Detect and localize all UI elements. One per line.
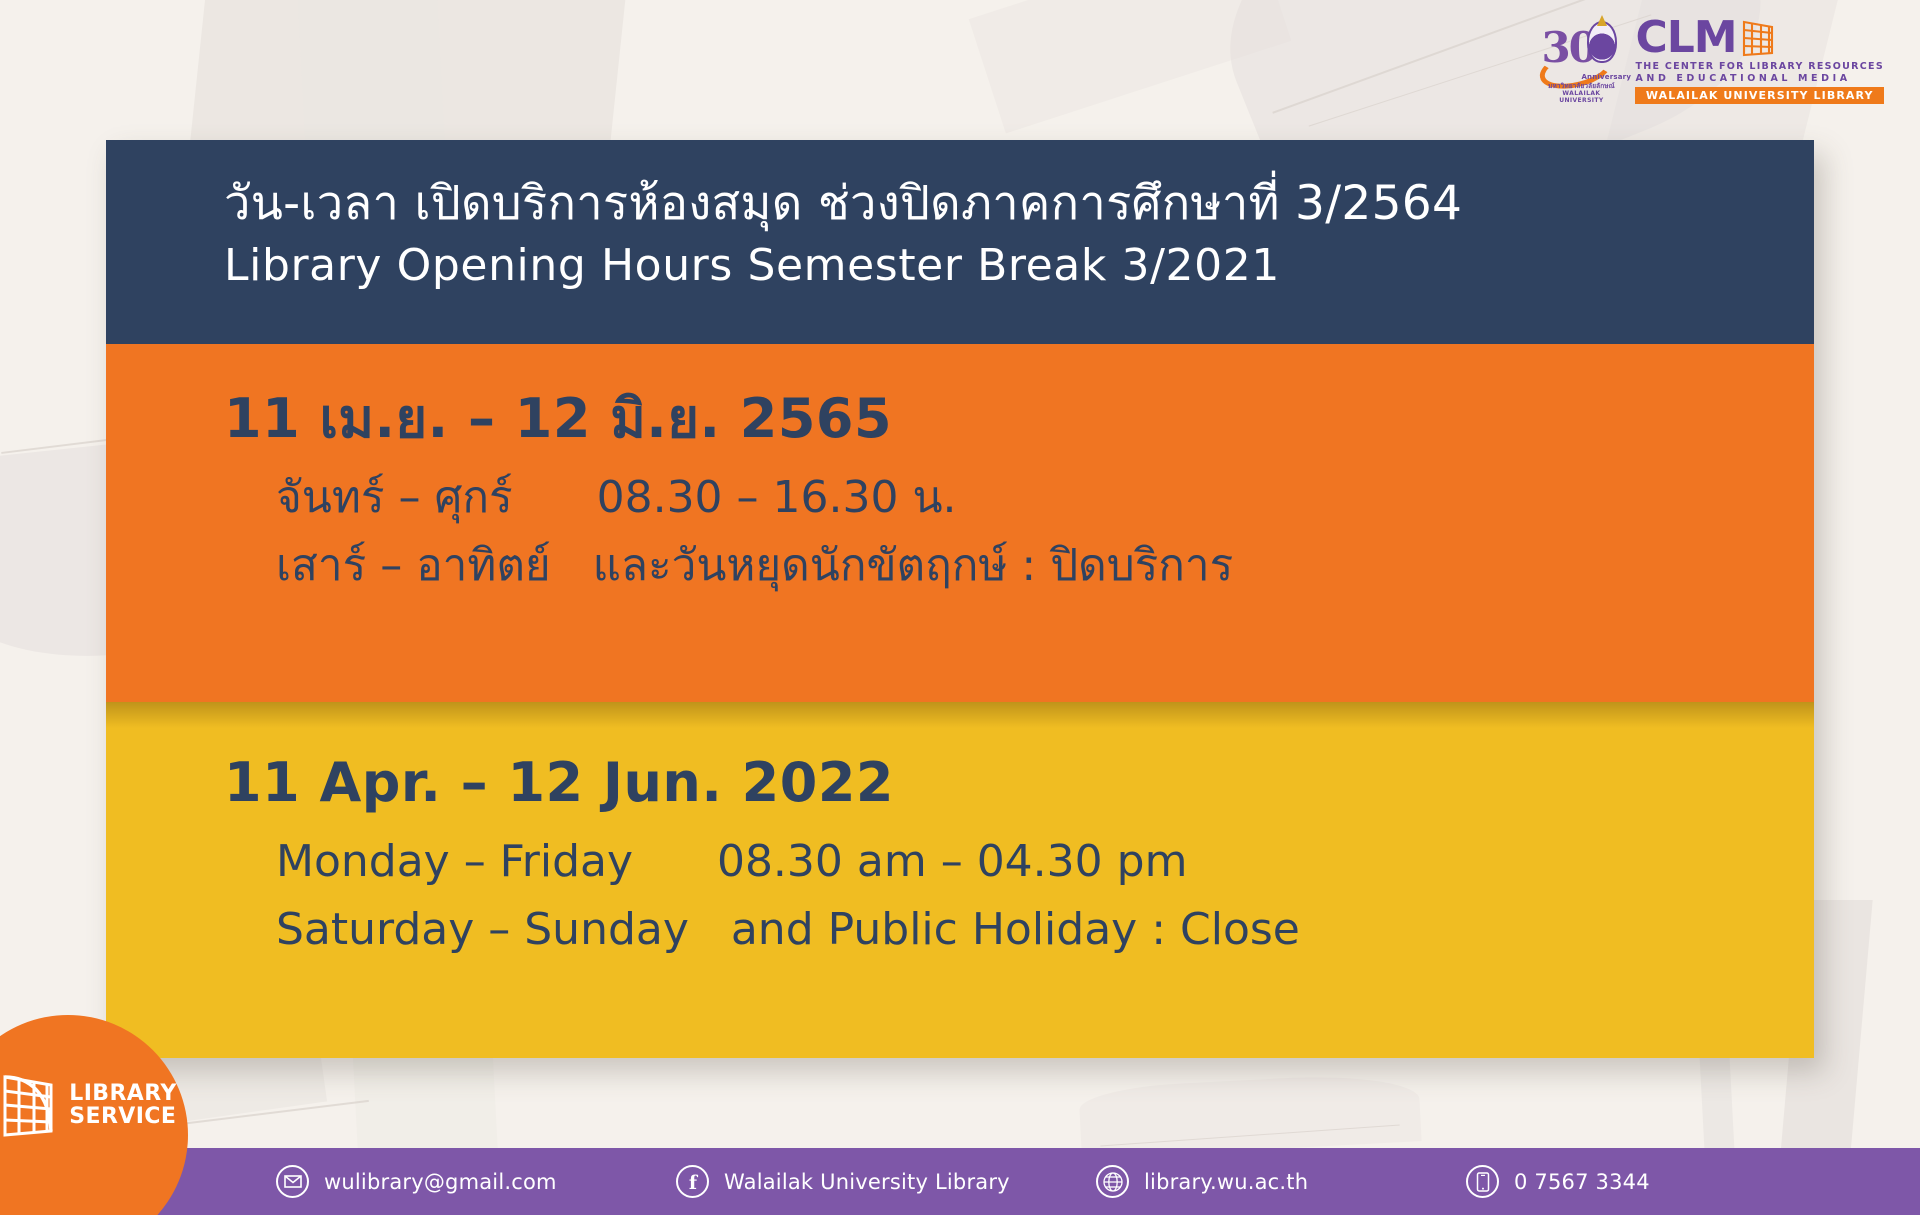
badge-label-line-2: SERVICE — [69, 1104, 176, 1129]
page-title-th: วัน-เวลา เปิดบริการห้องสมุด ช่วงปิดภาคกา… — [224, 174, 1814, 234]
english-weekday-hours: Monday – Friday 08.30 am – 04.30 pm — [224, 828, 1814, 896]
english-weekend-hours: Saturday – Sunday and Public Holiday : C… — [224, 896, 1814, 964]
badge-label-line-1: LIBRARY — [69, 1081, 176, 1106]
facebook-icon: f — [676, 1165, 709, 1198]
clm-wordmark: CLM — [1635, 18, 1736, 58]
walailak-university-30th-anniversary-logo: 30 Anniversary มหาวิทยาลัยวลัยลักษณ์ WAL… — [1539, 17, 1623, 101]
thai-weekday-hours: จันทร์ – ศุกร์ 08.30 – 16.30 น. — [224, 464, 1814, 532]
clm-library-bar: WALAILAK UNIVERSITY LIBRARY — [1635, 87, 1884, 104]
contact-email[interactable]: wulibrary@gmail.com — [276, 1165, 676, 1198]
website-text: library.wu.ac.th — [1144, 1170, 1308, 1194]
clm-subtitle-line-2: AND EDUCATIONAL MEDIA — [1635, 73, 1884, 84]
bookshelf-icon — [1741, 18, 1775, 58]
announcement-card: วัน-เวลา เปิดบริการห้องสมุด ช่วงปิดภาคกา… — [106, 140, 1814, 1058]
logo-group: 30 Anniversary มหาวิทยาลัยวลัยลักษณ์ WAL… — [1539, 14, 1884, 104]
card-header-band: วัน-เวลา เปิดบริการห้องสมุด ช่วงปิดภาคกา… — [106, 140, 1814, 344]
anniversary-sub-label: Anniversary — [1581, 73, 1631, 81]
facebook-text: Walailak University Library — [724, 1170, 1010, 1194]
email-text: wulibrary@gmail.com — [324, 1170, 557, 1194]
thai-weekend-hours: เสาร์ – อาทิตย์ และวันหยุดนักขัตฤกษ์ : ป… — [224, 532, 1814, 600]
clm-subtitle-line-1: THE CENTER FOR LIBRARY RESOURCES — [1635, 61, 1884, 72]
thai-schedule-band: 11 เม.ย. – 12 มิ.ย. 2565 จันทร์ – ศุกร์ … — [106, 344, 1814, 702]
poster-canvas: 30 Anniversary มหาวิทยาลัยวลัยลักษณ์ WAL… — [0, 0, 1920, 1215]
page-title-en: Library Opening Hours Semester Break 3/2… — [224, 238, 1814, 294]
university-crest-icon — [1587, 21, 1617, 63]
footer-contact-list: wulibrary@gmail.com f Walailak Universit… — [0, 1165, 1920, 1198]
brush-stroke — [1078, 1071, 1421, 1159]
contact-footer: LIBRARY SERVICE wulibrary@gmail.com — [0, 1148, 1920, 1215]
english-date-range: 11 Apr. – 12 Jun. 2022 — [224, 752, 1814, 814]
library-shelf-icon — [0, 1067, 61, 1143]
envelope-icon — [276, 1165, 309, 1198]
svg-text:f: f — [688, 1172, 698, 1193]
badge-label: LIBRARY SERVICE — [69, 1082, 176, 1129]
phone-text: 0 7567 3344 — [1514, 1170, 1650, 1194]
university-name-en: WALAILAK UNIVERSITY — [1539, 90, 1623, 104]
contact-phone[interactable]: 0 7567 3344 — [1466, 1165, 1650, 1198]
thai-date-range: 11 เม.ย. – 12 มิ.ย. 2565 — [224, 388, 1814, 450]
clm-library-logo: CLM THE CENTER F — [1635, 14, 1884, 104]
mobile-phone-icon — [1466, 1165, 1499, 1198]
english-schedule-band: 11 Apr. – 12 Jun. 2022 Monday – Friday 0… — [106, 702, 1814, 1058]
contact-website[interactable]: library.wu.ac.th — [1096, 1165, 1466, 1198]
contact-facebook[interactable]: f Walailak University Library — [676, 1165, 1096, 1198]
globe-icon — [1096, 1165, 1129, 1198]
